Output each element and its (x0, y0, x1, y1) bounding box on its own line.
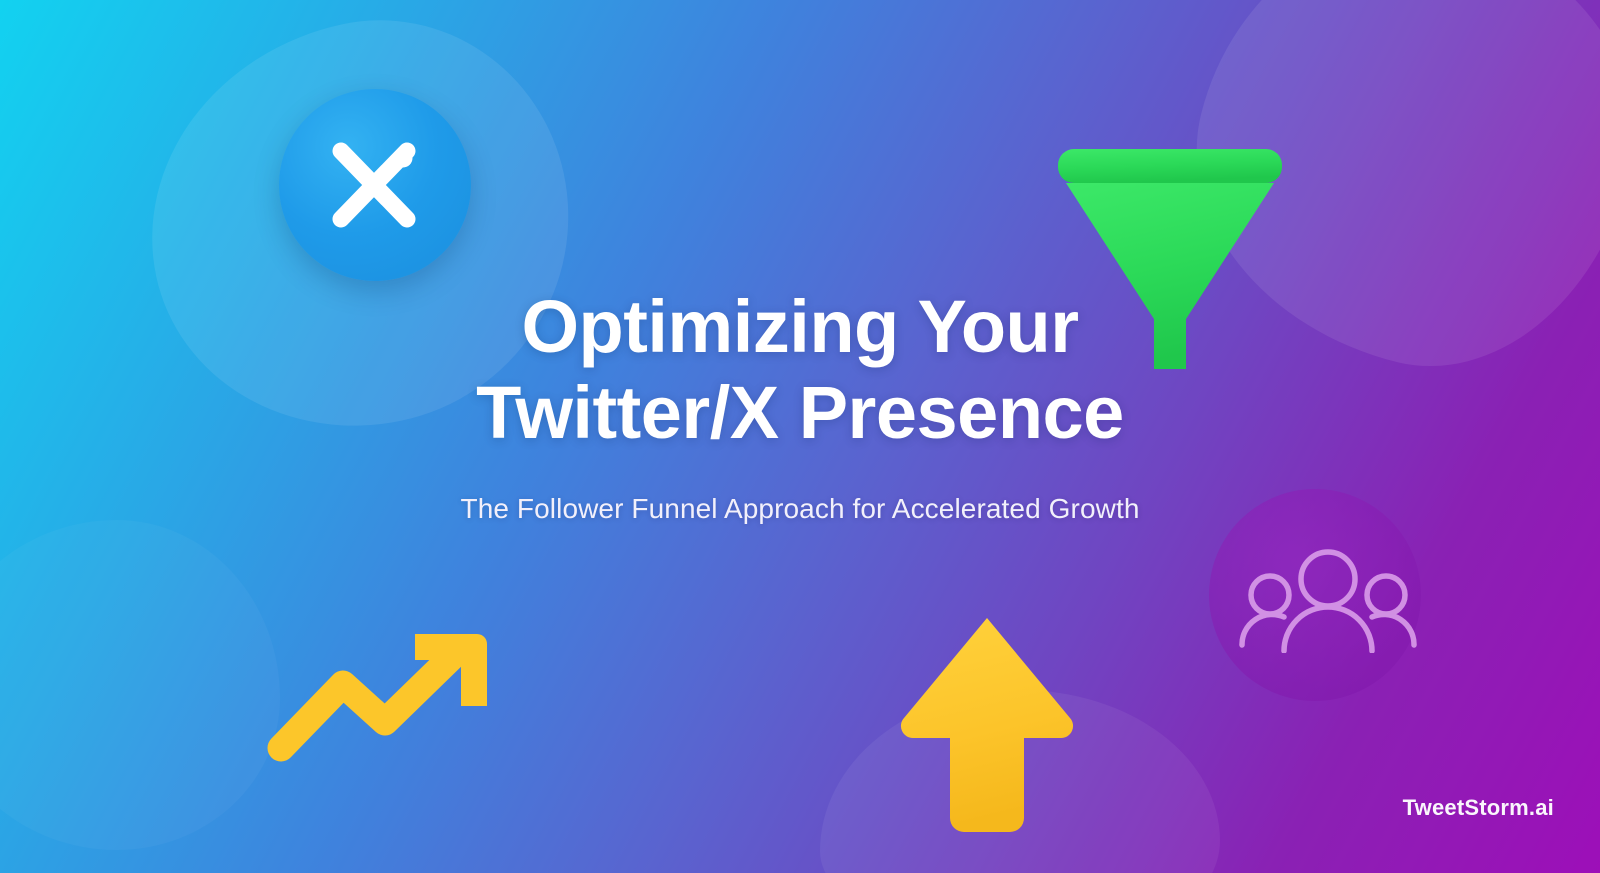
brand-watermark: TweetStorm.ai (1403, 795, 1554, 821)
arrow-up-icon (898, 614, 1076, 836)
presentation-banner: Optimizing Your Twitter/X Presence The F… (0, 0, 1600, 873)
page-title-line-2: Twitter/X Presence (0, 368, 1600, 458)
trending-up-arrow-icon (265, 612, 505, 762)
headline-block: Optimizing Your Twitter/X Presence The F… (0, 282, 1600, 525)
page-subtitle: The Follower Funnel Approach for Acceler… (0, 493, 1600, 525)
x-logo-badge (279, 89, 471, 281)
decorative-blob-bottom-left (0, 520, 280, 850)
people-group-icon (1238, 545, 1418, 653)
page-title-line-1: Optimizing Your (0, 282, 1600, 372)
